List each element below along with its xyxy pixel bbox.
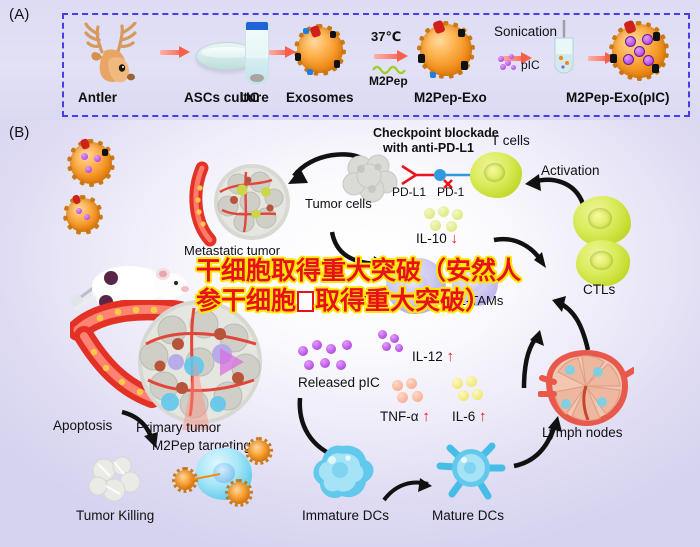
- label-tumor-cells: Tumor cells: [305, 196, 372, 211]
- label-ctls: CTLs: [583, 282, 615, 297]
- label-tumor-killing: Tumor Killing: [76, 508, 154, 523]
- step-label-exosomes: Exosomes: [286, 90, 354, 105]
- step-label-antler: Antler: [78, 90, 117, 105]
- ctl-cell-2: [576, 240, 630, 286]
- loaded-exosome-icon: [612, 24, 666, 78]
- label-t-cells: T cells: [491, 133, 530, 148]
- sonicator-tube-icon: [548, 20, 582, 93]
- pic-label: pIC: [521, 58, 540, 72]
- watermark-line-1: 干细胞取得重大突破（安然人: [196, 256, 521, 285]
- label-checkpoint-blockade-2: with anti-PD-L1: [383, 141, 474, 155]
- il10-text: IL-10: [416, 231, 447, 246]
- peptide-exosome-icon: [420, 24, 472, 76]
- centrifuge-tube-icon: [245, 21, 269, 85]
- watermark-broken-glyph: [297, 291, 314, 312]
- deer-icon: [78, 22, 150, 84]
- watermark-line-2-after: 取得重大突破）: [315, 286, 490, 315]
- exosome-icon: [297, 27, 343, 73]
- step-label-uc: UC: [240, 90, 260, 105]
- free-exosome-icon-2: [66, 198, 100, 232]
- label-immature-dcs: Immature DCs: [302, 508, 389, 523]
- step-label-m2pep-exo-pic: M2Pep-Exo(pIC): [566, 90, 670, 105]
- label-pd-1: PD-1: [437, 185, 464, 199]
- ctl-cell-1: [573, 196, 631, 246]
- watermark-text: 干细胞取得重大突破（安然人参干细胞取得重大突破）: [196, 256, 536, 316]
- arrow-dc-maturation: [382, 478, 438, 506]
- label-il12: IL-12 ↑: [412, 348, 454, 365]
- arrow-lymph-to-ctl: [530, 296, 596, 356]
- peptide-label: M2Pep: [369, 74, 408, 88]
- process-arrow-2: [268, 48, 296, 57]
- il10-down-arrow: ↓: [451, 230, 459, 247]
- il6-up-arrow: ↑: [479, 408, 487, 425]
- t-cell-top: [470, 152, 522, 198]
- label-il10: IL-10 ↓: [416, 230, 458, 247]
- free-exosome-icon-1: [70, 142, 112, 184]
- label-apoptosis: Apoptosis: [53, 418, 112, 433]
- il6-text: IL-6: [452, 409, 475, 424]
- immature-dc-illustration: [308, 440, 378, 504]
- panel-a: Antler ASCs culture UC Exosomes 37℃: [0, 0, 700, 120]
- targeting-exosome-1: [248, 440, 270, 462]
- targeting-exosome-3: [228, 482, 250, 504]
- label-released-pic: Released pIC: [298, 375, 380, 390]
- process-arrow-1: [160, 48, 190, 57]
- il12-text: IL-12: [412, 349, 443, 364]
- label-tnf-alpha: TNF-α ↑: [380, 408, 430, 425]
- label-pd-l1: PD-L1: [392, 185, 426, 199]
- label-checkpoint-blockade-1: Checkpoint blockade: [373, 126, 499, 140]
- figure-canvas: Antler ASCs culture UC Exosomes 37℃: [0, 0, 700, 547]
- step-label-m2pep-exo: M2Pep-Exo: [414, 90, 487, 105]
- temperature-label: 37℃: [371, 29, 401, 45]
- label-il6: IL-6 ↑: [452, 408, 487, 425]
- apoptotic-cell-illustration: [84, 452, 146, 508]
- panel-b-label: (B): [9, 124, 30, 141]
- mature-dc-illustration: [434, 438, 508, 504]
- label-mature-dcs: Mature DCs: [432, 508, 504, 523]
- arrow-dc-to-lymph: [508, 414, 566, 472]
- tnf-text: TNF-α: [380, 409, 419, 424]
- il12-up-arrow: ↑: [447, 348, 455, 365]
- panel-a-label: (A): [9, 6, 30, 23]
- process-arrow-3: [374, 52, 408, 61]
- tnf-up-arrow: ↑: [422, 408, 430, 425]
- targeting-beam: [188, 470, 224, 486]
- watermark-line-2-before: 参干细胞: [196, 286, 296, 315]
